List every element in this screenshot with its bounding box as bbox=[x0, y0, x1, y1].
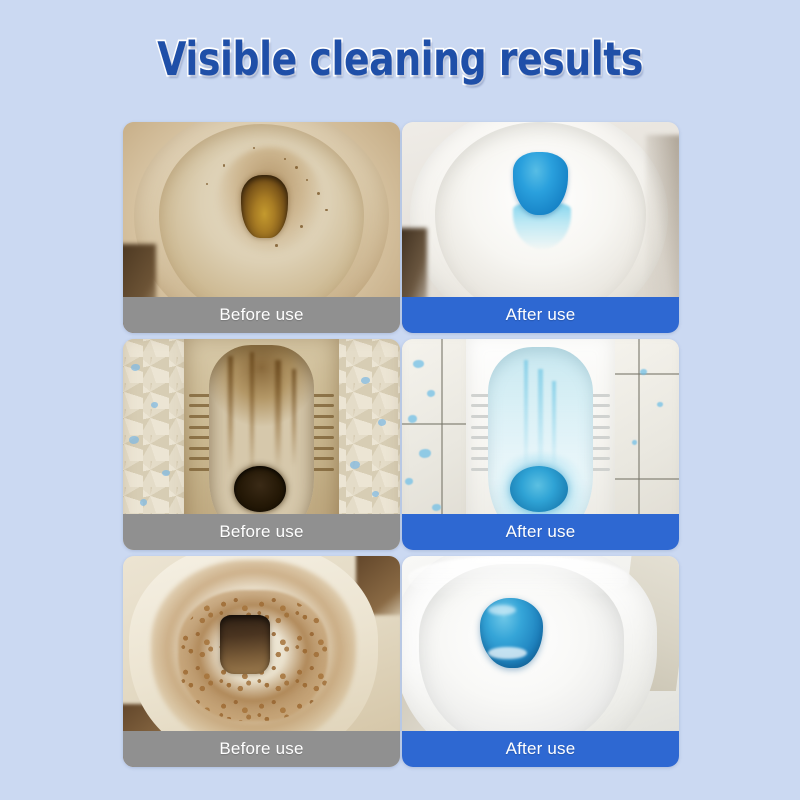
comparison-card-row3-before[interactable]: Before use bbox=[123, 556, 400, 767]
title-banner: Visible cleaning results bbox=[0, 0, 800, 118]
comparison-card-row1-before[interactable]: Before use bbox=[123, 122, 400, 333]
water-highlight-secondary bbox=[488, 605, 516, 616]
label-bar-after: After use bbox=[402, 297, 679, 333]
water-highlight bbox=[488, 647, 527, 660]
label-bar-before: Before use bbox=[123, 297, 400, 333]
comparison-card-row2-before[interactable]: Before use bbox=[123, 339, 400, 550]
label-bar-before: Before use bbox=[123, 514, 400, 550]
toilet-drain-stained bbox=[241, 175, 288, 238]
label-text: Before use bbox=[219, 305, 303, 325]
label-text: Before use bbox=[219, 739, 303, 759]
label-text: After use bbox=[506, 305, 576, 325]
comparison-card-row3-after[interactable]: After use bbox=[402, 556, 679, 767]
page-title: Visible cleaning results bbox=[157, 36, 643, 82]
before-after-grid: Before use After use bbox=[123, 122, 679, 767]
rim-shadow bbox=[646, 135, 679, 321]
label-text: After use bbox=[506, 739, 576, 759]
blue-cleaner-pool bbox=[510, 466, 568, 512]
label-bar-after: After use bbox=[402, 514, 679, 550]
comparison-card-row1-after[interactable]: After use bbox=[402, 122, 679, 333]
rim-highlight bbox=[408, 556, 630, 598]
toilet-drain-stained bbox=[220, 615, 270, 674]
label-bar-before: Before use bbox=[123, 731, 400, 767]
label-text: Before use bbox=[219, 522, 303, 542]
label-bar-after: After use bbox=[402, 731, 679, 767]
label-text: After use bbox=[506, 522, 576, 542]
squat-toilet-drain bbox=[234, 466, 287, 512]
comparison-card-row2-after[interactable]: After use bbox=[402, 339, 679, 550]
